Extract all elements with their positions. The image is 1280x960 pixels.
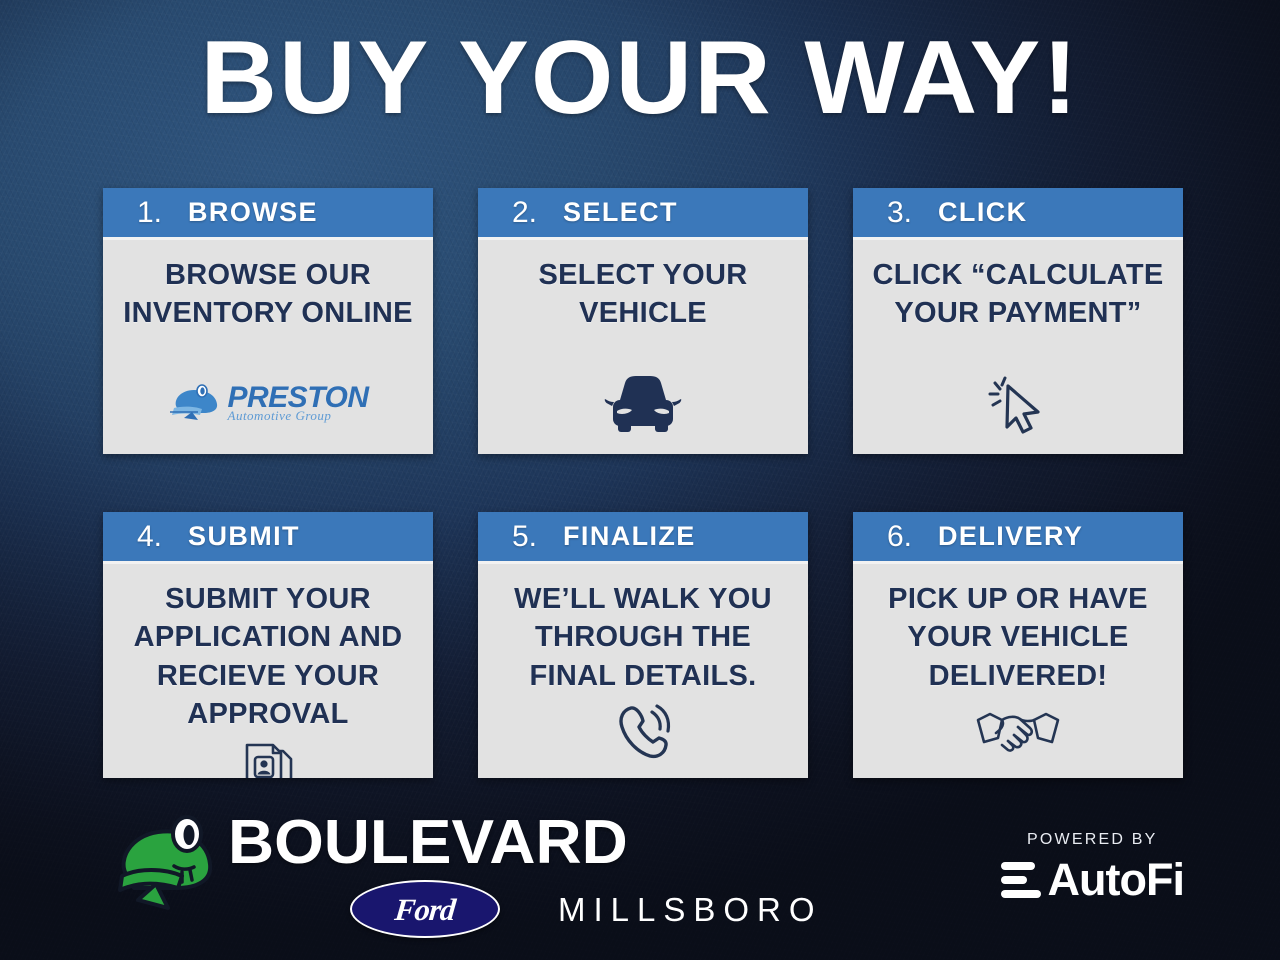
step-description: PICK UP OR HAVE YOUR VEHICLE DELIVERED!	[865, 580, 1171, 695]
steps-grid: 1. BROWSE BROWSE OUR INVENTORY ONLINE	[103, 188, 1184, 778]
frog-mascot-icon	[112, 812, 220, 920]
step-description: SUBMIT YOUR APPLICATION AND RECIEVE YOUR…	[115, 580, 421, 733]
ringing-phone-icon	[611, 695, 675, 769]
step-card-header: 6. DELIVERY	[853, 512, 1183, 564]
step-number: 6.	[887, 522, 912, 552]
step-card-click[interactable]: 3. CLICK CLICK “CALCULATE YOUR PAYMENT”	[853, 188, 1183, 454]
handshake-icon	[972, 695, 1064, 769]
step-card-body: BROWSE OUR INVENTORY ONLINE PRESTON	[103, 240, 433, 454]
step-card-header: 3. CLICK	[853, 188, 1183, 240]
step-description: BROWSE OUR INVENTORY ONLINE	[115, 256, 421, 333]
step-number: 2.	[512, 198, 537, 228]
step-number: 3.	[887, 198, 912, 228]
step-description: SELECT YOUR VEHICLE	[490, 256, 796, 333]
step-label: FINALIZE	[563, 523, 696, 550]
step-card-header: 5. FINALIZE	[478, 512, 808, 564]
ford-wordmark: Ford	[393, 894, 456, 925]
step-label: SUBMIT	[188, 523, 300, 550]
step-card-browse[interactable]: 1. BROWSE BROWSE OUR INVENTORY ONLINE	[103, 188, 433, 454]
step-number: 5.	[512, 522, 537, 552]
step-label: BROWSE	[188, 199, 318, 226]
step-card-submit[interactable]: 4. SUBMIT SUBMIT YOUR APPLICATION AND RE…	[103, 512, 433, 778]
click-cursor-icon	[983, 366, 1053, 440]
step-card-header: 1. BROWSE	[103, 188, 433, 240]
step-card-body: CLICK “CALCULATE YOUR PAYMENT”	[853, 240, 1183, 454]
step-card-body: PICK UP OR HAVE YOUR VEHICLE DELIVERED!	[853, 564, 1183, 778]
page-title: BUY YOUR WAY!	[0, 26, 1280, 130]
step-number: 4.	[137, 522, 162, 552]
step-card-body: WE’LL WALK YOU THROUGH THE FINAL DETAILS…	[478, 564, 808, 778]
powered-by-label: POWERED BY	[1027, 832, 1157, 848]
step-card-finalize[interactable]: 5. FINALIZE WE’LL WALK YOU THROUGH THE F…	[478, 512, 808, 778]
step-label: SELECT	[563, 199, 678, 226]
car-front-icon	[600, 366, 686, 440]
frog-logo-icon	[168, 382, 226, 422]
step-card-body: SUBMIT YOUR APPLICATION AND RECIEVE YOUR…	[103, 564, 433, 778]
dealer-name: BOULEVARD	[228, 812, 840, 874]
step-label: DELIVERY	[938, 523, 1083, 550]
preston-tagline: Automotive Group	[228, 409, 332, 422]
ford-oval-logo: Ford	[350, 880, 500, 938]
boulevard-ford-logo[interactable]: BOULEVARD Ford MILLSBORO	[112, 812, 823, 938]
footer: BOULEVARD Ford MILLSBORO POWERED BY Auto…	[0, 804, 1280, 944]
step-card-select[interactable]: 2. SELECT SELECT YOUR VEHICLE	[478, 188, 808, 454]
dealer-location: MILLSBORO	[558, 893, 823, 926]
preston-automotive-group-logo: PRESTON Automotive Group	[168, 374, 369, 430]
step-label: CLICK	[938, 199, 1028, 226]
autofi-logo[interactable]: POWERED BY AutoFi	[1001, 832, 1184, 902]
step-card-body: SELECT YOUR VEHICLE	[478, 240, 808, 454]
step-description: WE’LL WALK YOU THROUGH THE FINAL DETAILS…	[490, 580, 796, 695]
application-document-icon	[237, 733, 299, 778]
step-description: CLICK “CALCULATE YOUR PAYMENT”	[865, 256, 1171, 333]
step-card-header: 2. SELECT	[478, 188, 808, 240]
step-card-header: 4. SUBMIT	[103, 512, 433, 564]
step-card-delivery[interactable]: 6. DELIVERY PICK UP OR HAVE YOUR VEHICLE…	[853, 512, 1183, 778]
autofi-wordmark: AutoFi	[1048, 857, 1184, 902]
autofi-bars-icon	[1001, 862, 1041, 898]
step-number: 1.	[137, 198, 162, 228]
